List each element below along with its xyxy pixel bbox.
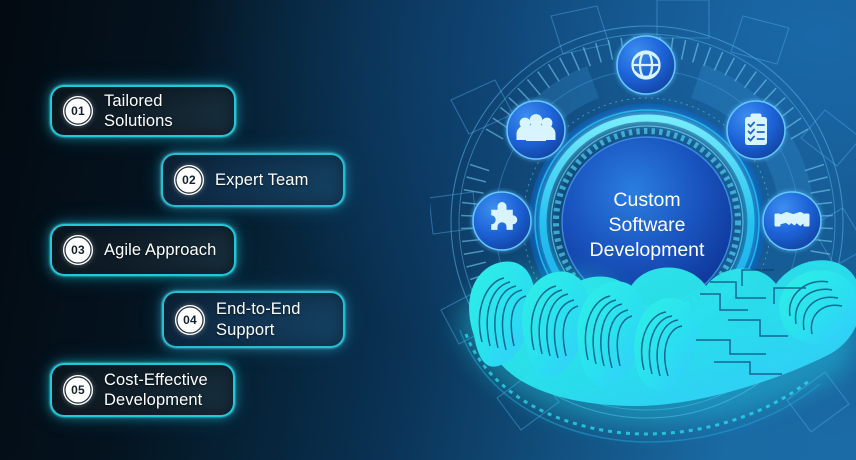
clipboard-checklist-icon [727, 101, 785, 159]
benefit-label: Cost-EffectiveDevelopment [104, 370, 208, 410]
puzzle-icon [473, 192, 531, 250]
svg-text:Development: Development [590, 239, 705, 261]
benefit-card-01[interactable]: 01 Tailored Solutions [50, 85, 236, 137]
benefit-number-badge: 05 [63, 375, 93, 405]
handshake-icon [763, 192, 821, 250]
globe-icon [617, 36, 675, 94]
team-icon [507, 101, 565, 159]
poster-canvas: Custom Software Development [0, 0, 856, 460]
svg-text:Custom: Custom [613, 189, 680, 211]
digital-hand [458, 260, 856, 442]
benefit-card-04[interactable]: 04 End-to-EndSupport [162, 291, 345, 348]
benefit-number-badge: 04 [175, 305, 205, 335]
benefit-label: Agile Approach [104, 240, 216, 260]
benefit-card-03[interactable]: 03 Agile Approach [50, 224, 236, 276]
benefit-card-02[interactable]: 02 Expert Team [161, 153, 345, 207]
benefit-label: End-to-EndSupport [216, 299, 300, 339]
benefit-label: Tailored Solutions [104, 91, 220, 131]
svg-text:Software: Software [609, 214, 686, 236]
benefit-card-05[interactable]: 05 Cost-EffectiveDevelopment [50, 363, 235, 417]
benefit-number-badge: 03 [63, 235, 93, 265]
benefit-label: Expert Team [215, 170, 308, 190]
benefit-number-badge: 01 [63, 96, 93, 126]
hero-illustration: Custom Software Development [430, 0, 856, 460]
benefit-number-badge: 02 [174, 165, 204, 195]
